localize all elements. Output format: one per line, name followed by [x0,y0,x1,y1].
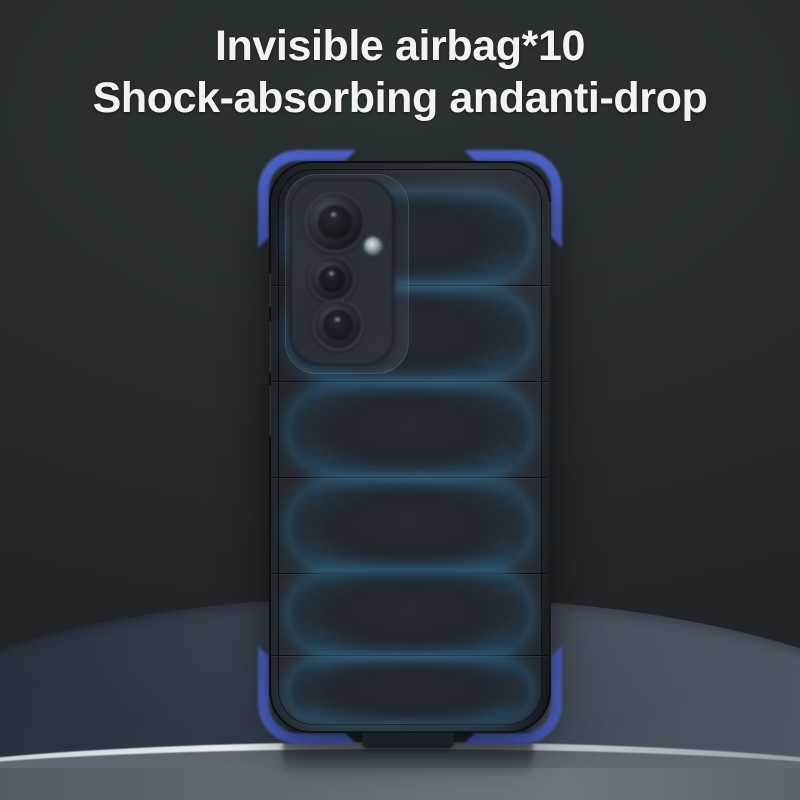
side-button-power [269,273,271,307]
headline: Invisible airbag*10 Shock-absorbing anda… [0,20,800,124]
lens-glint [330,212,337,217]
airbag-pill [291,483,529,569]
airbag-pill [291,661,529,721]
side-button-volume-up [269,321,271,373]
lens-glint [328,271,335,276]
headline-line-2: Shock-absorbing andanti-drop [0,72,800,124]
camera-island [290,179,394,365]
case-body [269,161,551,733]
phone-case-product [263,157,557,737]
lens-glint [334,317,341,322]
seam-line [269,655,551,656]
camera-flash-icon [362,235,384,257]
product-image-canvas: Invisible airbag*10 Shock-absorbing anda… [0,0,800,800]
case-edge-rail [548,201,551,671]
camera-lens-macro [312,299,364,351]
camera-lens-main [304,191,366,253]
airbag-pill [291,387,529,473]
side-button-volume-down [269,385,271,437]
headline-line-1: Invisible airbag*10 [0,20,800,72]
airbag-pill [291,573,529,653]
seam-line [269,477,551,478]
camera-lens-ultrawide [308,255,356,303]
seam-line [269,381,551,382]
